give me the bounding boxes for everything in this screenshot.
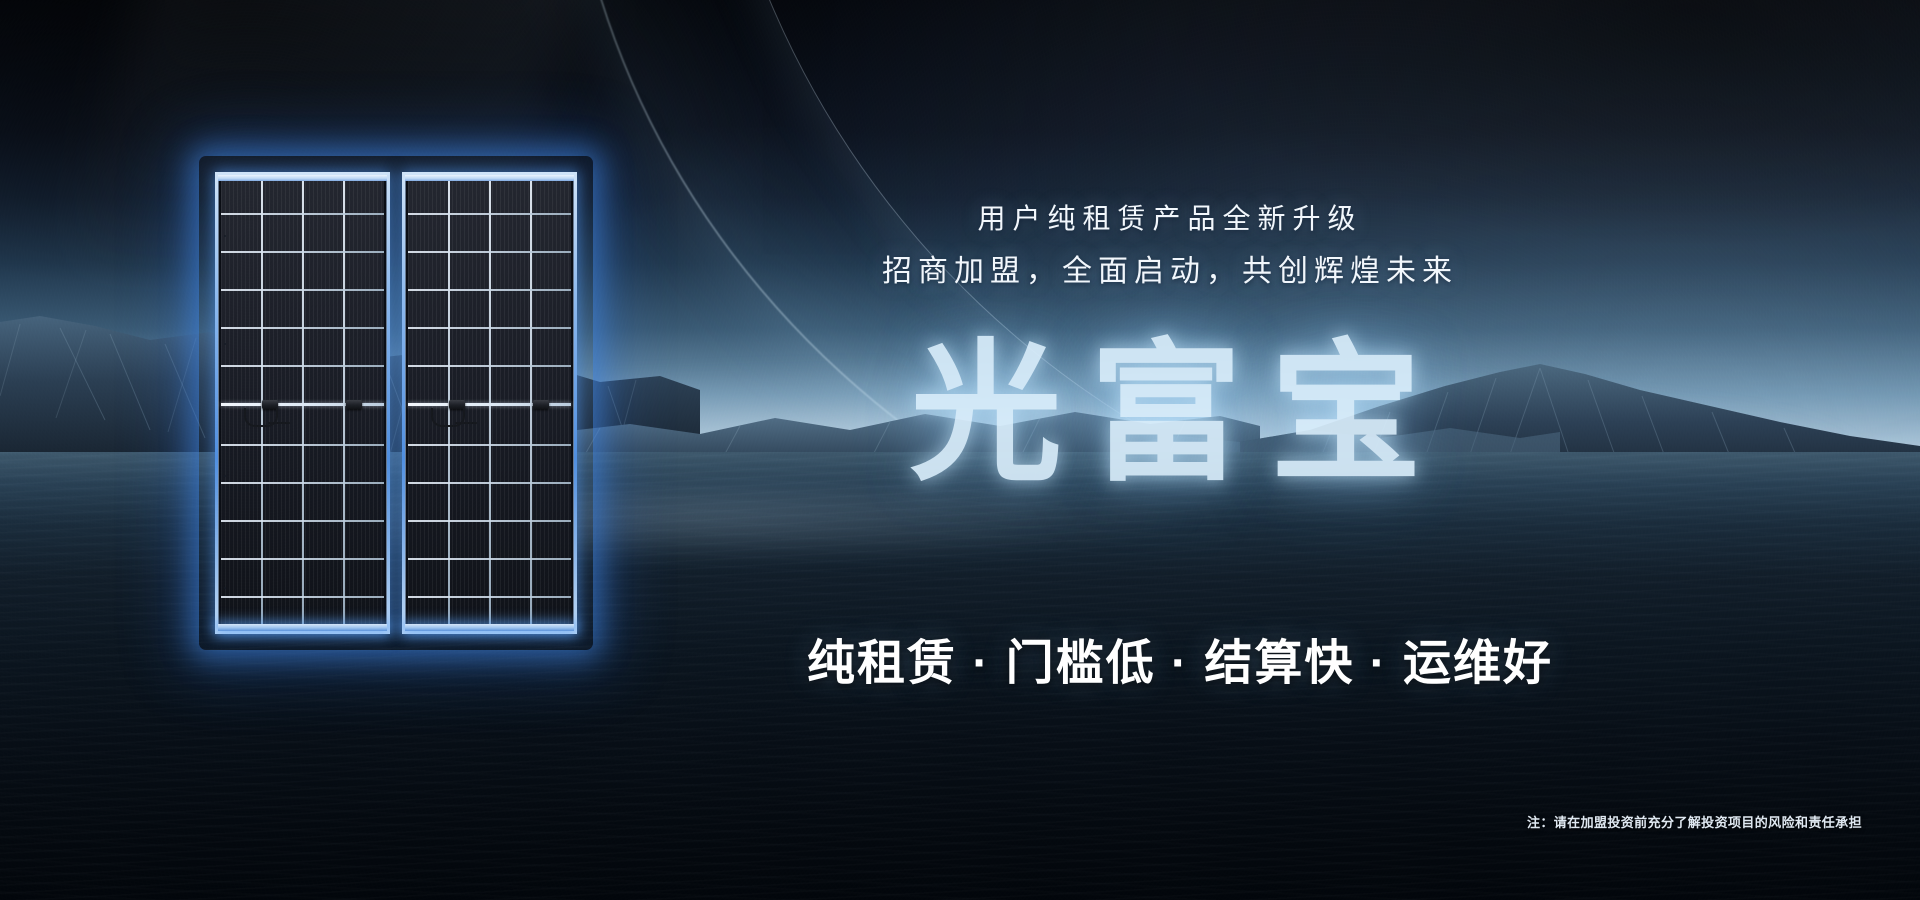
panel-bottom-rail bbox=[405, 624, 574, 631]
panel-section-left bbox=[215, 172, 390, 634]
headline-block: 用户纯租赁产品全新升级 招商加盟，全面启动，共创辉煌未来 bbox=[770, 205, 1570, 287]
headline-line-1: 用户纯租赁产品全新升级 bbox=[770, 205, 1570, 233]
promo-banner: 用户纯租赁产品全新升级 招商加盟，全面启动，共创辉煌未来 光富宝 纯租赁 · 门… bbox=[0, 0, 1920, 900]
headline-line-2: 招商加盟，全面启动，共创辉煌未来 bbox=[770, 257, 1570, 287]
junction-box bbox=[346, 400, 362, 409]
panel-section-right bbox=[402, 172, 577, 634]
junction-cable bbox=[244, 408, 278, 427]
junction-cable-lead bbox=[455, 422, 477, 424]
brand-name: 光富宝 bbox=[820, 338, 1540, 490]
disclaimer-note: 注：请在加盟投资前充分了解投资项目的风险和责任承担 bbox=[1527, 812, 1862, 831]
panel-top-rail bbox=[405, 175, 574, 181]
junction-cable bbox=[431, 408, 465, 427]
panel-bottom-rail bbox=[218, 624, 387, 631]
junction-cable-lead bbox=[268, 422, 290, 424]
tagline: 纯租赁 · 门槛低 · 结算快 · 运维好 bbox=[700, 640, 1660, 688]
solar-panel-product bbox=[215, 172, 577, 634]
panel-top-rail bbox=[218, 175, 387, 181]
junction-box bbox=[533, 400, 549, 409]
